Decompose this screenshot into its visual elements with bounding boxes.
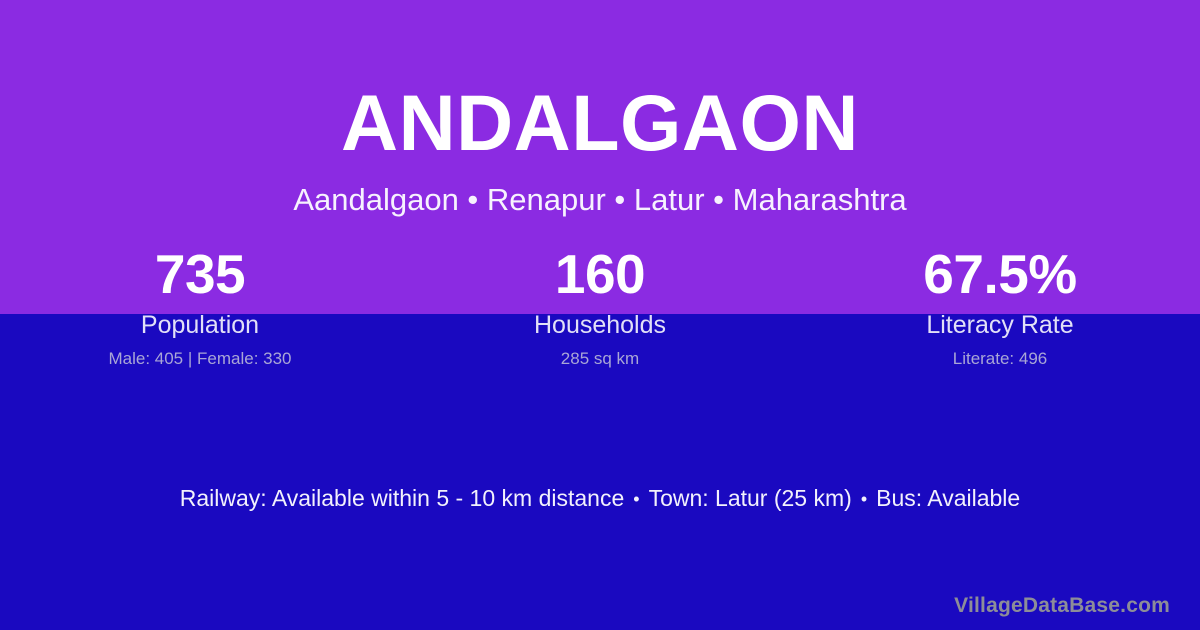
stat-literacy-rate: 67.5% Literacy Rate Literate: 496 [800, 244, 1200, 369]
village-info-card: ANDALGAON Aandalgaon • Renapur • Latur •… [0, 0, 1200, 630]
stat-value: 160 [400, 244, 800, 306]
stat-population: 735 Population Male: 405 | Female: 330 [0, 244, 400, 369]
amenity-railway: Railway: Available within 5 - 10 km dist… [180, 485, 624, 511]
stat-value: 67.5% [800, 244, 1200, 306]
breadcrumb: Aandalgaon • Renapur • Latur • Maharasht… [0, 181, 1200, 218]
amenity-bus: Bus: Available [876, 485, 1020, 511]
stat-sublabel: Literate: 496 [800, 349, 1200, 369]
stat-label: Literacy Rate [800, 310, 1200, 341]
card-content: ANDALGAON Aandalgaon • Renapur • Latur •… [0, 0, 1200, 630]
amenity-separator-icon: • [624, 488, 648, 511]
page-title: ANDALGAON [0, 83, 1200, 162]
stat-value: 735 [0, 244, 400, 306]
stat-households: 160 Households 285 sq km [400, 244, 800, 369]
amenity-separator-icon: • [852, 488, 876, 511]
stat-sublabel: 285 sq km [400, 349, 800, 369]
stats-row: 735 Population Male: 405 | Female: 330 1… [0, 244, 1200, 369]
stat-sublabel: Male: 405 | Female: 330 [0, 349, 400, 369]
stat-label: Population [0, 310, 400, 341]
stat-label: Households [400, 310, 800, 341]
amenity-town: Town: Latur (25 km) [649, 485, 852, 511]
site-watermark: VillageDataBase.com [954, 592, 1170, 619]
amenities-row: Railway: Available within 5 - 10 km dist… [0, 484, 1200, 514]
